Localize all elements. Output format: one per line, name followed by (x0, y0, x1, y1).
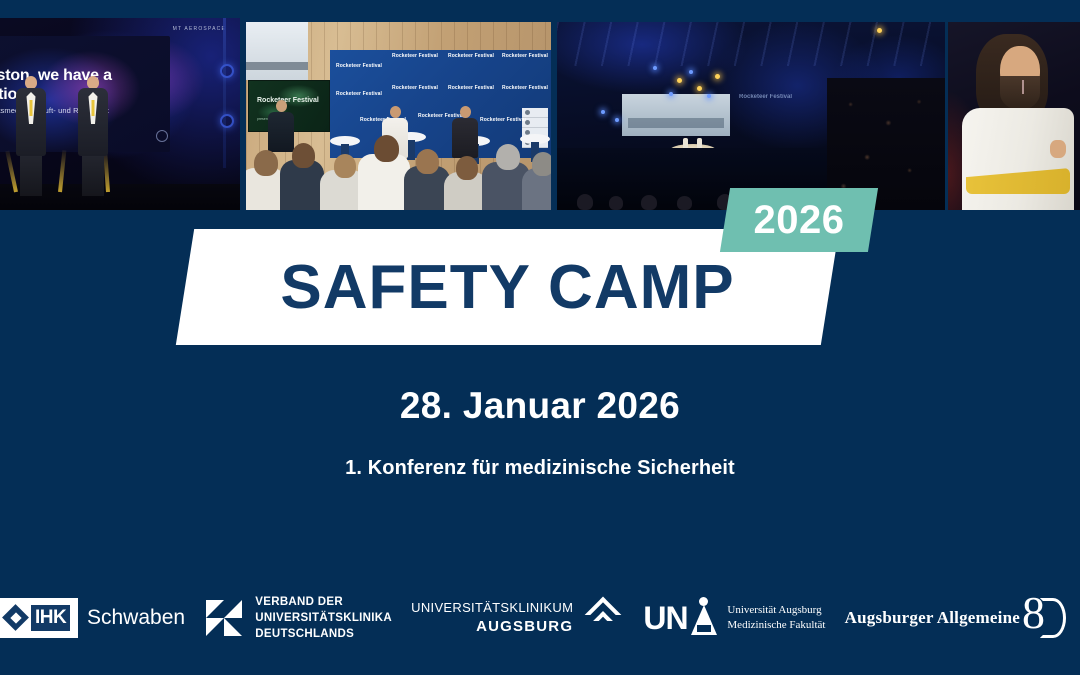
photo1-speaker (16, 76, 46, 196)
photo1-truss (223, 18, 226, 168)
photo3-ceiling-trusses (557, 22, 945, 66)
photo2-backdrop-text: Rocketeer Festival (502, 54, 548, 60)
year-badge-label: 2026 (725, 188, 873, 252)
una-wordmark: Universität Augsburg Medizinische Fakult… (727, 603, 825, 633)
partner-logo-ihk-schwaben: IHK Schwaben (0, 598, 185, 638)
eight-arc-icon: 8 (1016, 590, 1068, 646)
ihk-mark: IHK (31, 605, 70, 631)
photo1-sponsor-logo: MT AEROSPACE (173, 26, 226, 32)
photo2-backdrop-text: Rocketeer Festival (392, 54, 438, 60)
vud-line-2: UNIVERSITÄTSKLINIKA (255, 610, 392, 626)
photo4-white-shirt (962, 108, 1074, 210)
aa-wordmark: Augsburger Allgemeine (845, 608, 1020, 628)
photo2-window (246, 22, 308, 80)
vud-wordmark: VERBAND DER UNIVERSITÄTSKLINIKA DEUTSCHL… (255, 594, 392, 643)
photo4-beard (1000, 76, 1040, 110)
photo3-lamp (677, 78, 682, 83)
pinwheel-icon (204, 598, 244, 638)
photo3-blue-light (689, 70, 693, 74)
photo3-blue-light (669, 92, 673, 96)
photo2-backdrop-text: Rocketeer Festival (392, 86, 438, 92)
partner-logo-verband-universitaetsklinika: VERBAND DER UNIVERSITÄTSKLINIKA DEUTSCHL… (204, 594, 392, 643)
partner-logo-bar: IHK Schwaben VERBAND DER UNIVERSITÄTSKLI… (0, 565, 1080, 675)
una-line-2: Medizinische Fakultät (727, 618, 825, 633)
photo3-lamp (877, 28, 882, 33)
photo2-backdrop-text: Rocketeer Festival (448, 86, 494, 92)
partner-logo-universitaet-augsburg-medizinische-fakultaet: UN Universität Augsburg Medizinische Fak… (643, 598, 825, 638)
page-title: SAFETY CAMP (280, 252, 734, 323)
photo3-lamp (715, 74, 720, 79)
photo3-blue-light (601, 110, 605, 114)
event-date: 28. Januar 2026 (0, 385, 1080, 427)
photo3-backdrop-text: Rocketeer Festival (739, 94, 792, 101)
photo1-stage-light (220, 114, 234, 128)
vud-line-1: VERBAND DER (255, 594, 392, 610)
photo3-blue-light (653, 66, 657, 70)
photo2-backdrop-text: Rocketeer Festival (336, 64, 382, 70)
diamond-icon (3, 605, 29, 631)
photo2-backdrop-text: Rocketeer Festival (448, 54, 494, 60)
una-mark: UN (643, 602, 687, 634)
photo-stage-two-speakers: Houston, we have a solution? Universität… (0, 18, 240, 210)
photo3-blue-light (707, 94, 711, 98)
photo1-screen-badge (156, 130, 168, 142)
una-triangle-icon: UN (643, 598, 717, 638)
photo1-stage-light (220, 64, 234, 78)
photo3-projection-screen (622, 94, 730, 136)
hero-photo-strip: Houston, we have a solution? Universität… (0, 0, 1080, 210)
partner-logo-augsburger-allgemeine: Augsburger Allgemeine 8 (845, 590, 1072, 646)
partner-logo-universitaetsklinikum-augsburg: UNIVERSITÄTSKLINIKUM AUGSBURG (411, 596, 624, 640)
photo-venue-wide-stage: Rocketeer Festival (557, 22, 945, 210)
uka-line-2: AUGSBURG (411, 617, 573, 637)
uka-line-1: UNIVERSITÄTSKLINIKUM (411, 600, 573, 617)
year-badge: 2026 (720, 188, 878, 252)
uka-wordmark: UNIVERSITÄTSKLINIKUM AUGSBURG (411, 600, 573, 636)
photo4-headset-mic (1022, 80, 1024, 94)
una-line-1: Universität Augsburg (727, 603, 825, 618)
event-subtitle: 1. Konferenz für medizinische Sicherheit (0, 457, 1080, 480)
photo2-backdrop-text: Rocketeer Festival (480, 118, 526, 124)
ihk-wordmark: Schwaben (87, 606, 185, 630)
photo2-audience (246, 134, 551, 210)
photo2-backdrop-text: Rocketeer Festival (336, 92, 382, 98)
photo-panel-rocketeer-festival: Rocketeer Festival presented by Rocketee… (246, 22, 551, 210)
photo-speaker-closeup (948, 22, 1080, 210)
photo1-speaker (78, 76, 108, 196)
photo3-lamp (697, 86, 702, 91)
chevron-diamond-icon (582, 596, 624, 640)
photo2-backdrop-text: Rocketeer Festival (502, 86, 548, 92)
vud-line-3: DEUTSCHLANDS (255, 626, 392, 642)
photo3-blue-light (615, 118, 619, 122)
photo4-hand (1050, 140, 1066, 158)
